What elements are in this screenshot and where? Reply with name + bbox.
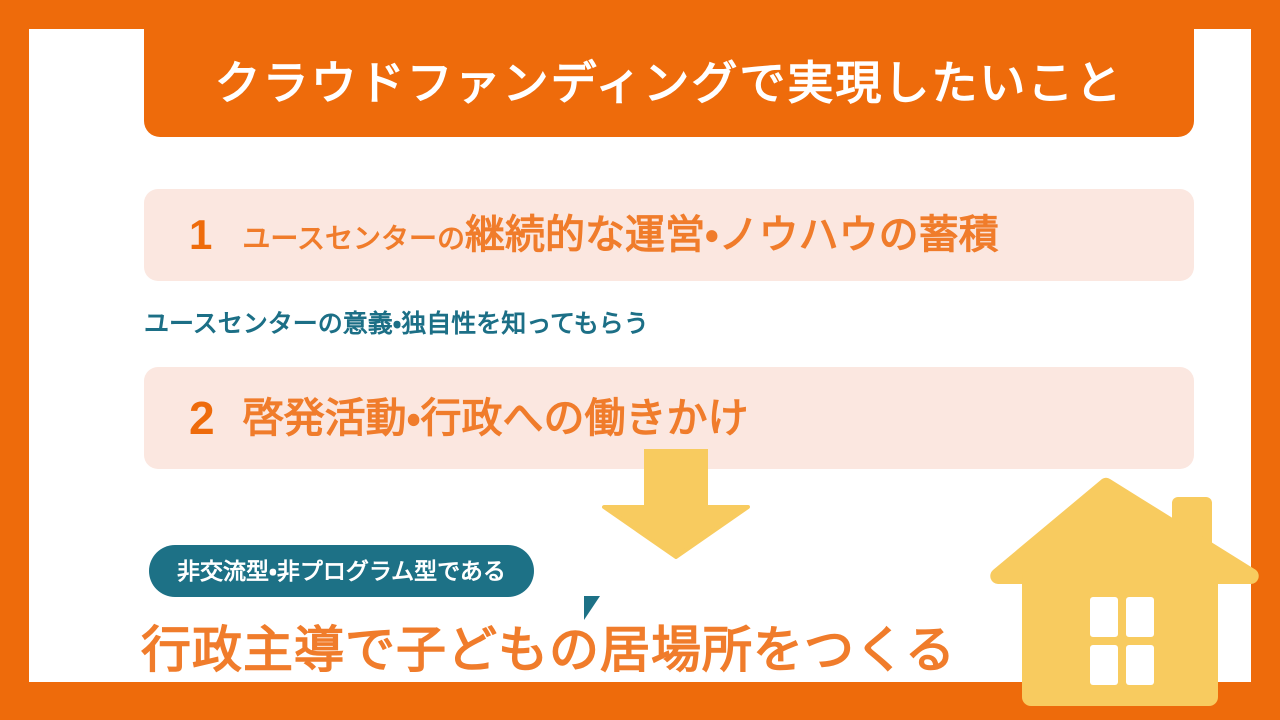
bottom-headline: 行政主導で子どもの居場所をつくる	[141, 625, 956, 675]
inner-white-panel: クラウドファンディングで実現したいこと 1 ユースセンターの継続的な運営・ノウハ…	[29, 29, 1251, 682]
down-arrow-icon	[602, 449, 750, 559]
speech-bubble: 非交流型・非プログラム型である	[149, 545, 534, 597]
point-number-2: 2	[189, 395, 215, 441]
point-text-2: 啓発活動・行政への働きかけ	[243, 398, 749, 439]
point-emphasis-1: 継続的な運営・ノウハウの蓄積	[465, 213, 999, 257]
slide-canvas: クラウドファンディングで実現したいこと 1 ユースセンターの継続的な運営・ノウハ…	[0, 0, 1280, 720]
house-icon	[984, 475, 1264, 709]
point-row-1: 1 ユースセンターの継続的な運営・ノウハウの蓄積	[144, 189, 1194, 281]
speech-bubble-label: 非交流型・非プログラム型である	[177, 560, 506, 583]
subtitle-text: ユースセンターの意義・独自性を知ってもらう	[144, 312, 649, 337]
point-number-1: 1	[189, 214, 212, 256]
point-lead-1: ユースセンターの	[242, 223, 465, 254]
speech-bubble-tail	[584, 596, 609, 620]
page-title: クラウドファンディングで実現したいこと	[215, 60, 1124, 106]
point-text-1: ユースセンターの継続的な運営・ノウハウの蓄積	[242, 215, 998, 255]
point-emphasis-2: 啓発活動・行政への働きかけ	[243, 395, 749, 441]
header-banner: クラウドファンディングで実現したいこと	[144, 29, 1194, 137]
